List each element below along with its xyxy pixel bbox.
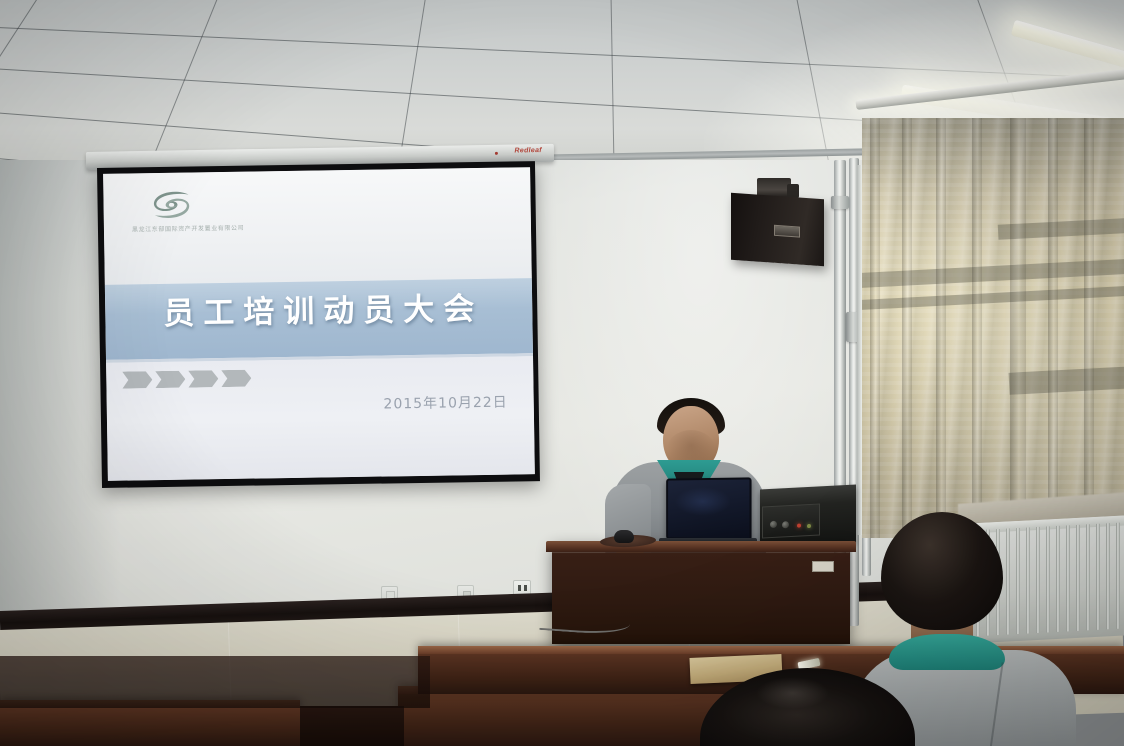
chevron-icon [122, 371, 152, 388]
curtain-fold [870, 118, 880, 538]
audience-desk-shadow [300, 706, 404, 746]
amplifier-front-panel [762, 503, 820, 538]
slide-company-name: 黑龙江东部国际资产开发置业有限公司 [132, 223, 244, 234]
audience-head [881, 512, 1003, 630]
curtain-fold [972, 118, 982, 538]
housing-brand-label: Redleaf [514, 147, 542, 154]
slide-date: 2015年10月22日 [383, 392, 508, 414]
slide-chevron-decoration [122, 370, 251, 389]
hair-highlight [756, 677, 829, 708]
company-swirl-logo [147, 190, 195, 221]
desk-surface [546, 541, 856, 552]
chevron-icon [221, 370, 251, 387]
chevron-icon [155, 371, 185, 388]
presentation-slide: 黑龙江东部国际资产开发置业有限公司 员工培训动员大会 2015年10月22日 [103, 167, 535, 481]
projection-screen: 黑龙江东部国际资产开发置业有限公司 员工培训动员大会 2015年10月22日 [97, 161, 540, 488]
desk-asset-label [812, 561, 834, 572]
wall-mounted-speaker [731, 193, 824, 267]
chevron-icon [188, 370, 218, 387]
housing-brand-dot [495, 152, 498, 155]
speaker-grille [774, 225, 800, 238]
curtain-fold [936, 118, 946, 538]
meeting-room-photo: Redleaf 黑龙江东部国际资产开发置业有限公司 员工培训动员大会 201 [0, 0, 1124, 746]
curtain-fold [1084, 118, 1094, 538]
curtain-fold [902, 118, 912, 538]
curtain-fold [1010, 118, 1026, 538]
window-with-curtains [862, 118, 1124, 538]
curtain-fold [1048, 118, 1058, 538]
fluorescent-light-fixture [1011, 20, 1124, 77]
laptop-screen[interactable] [666, 477, 751, 540]
room-floor-shadow [0, 656, 430, 708]
computer-mouse[interactable] [614, 530, 634, 543]
audience-collar [889, 634, 1005, 670]
laptop-screen-glow [674, 487, 731, 516]
slide-title: 员工培训动员大会 [105, 282, 533, 334]
pipe-collar [831, 196, 849, 209]
